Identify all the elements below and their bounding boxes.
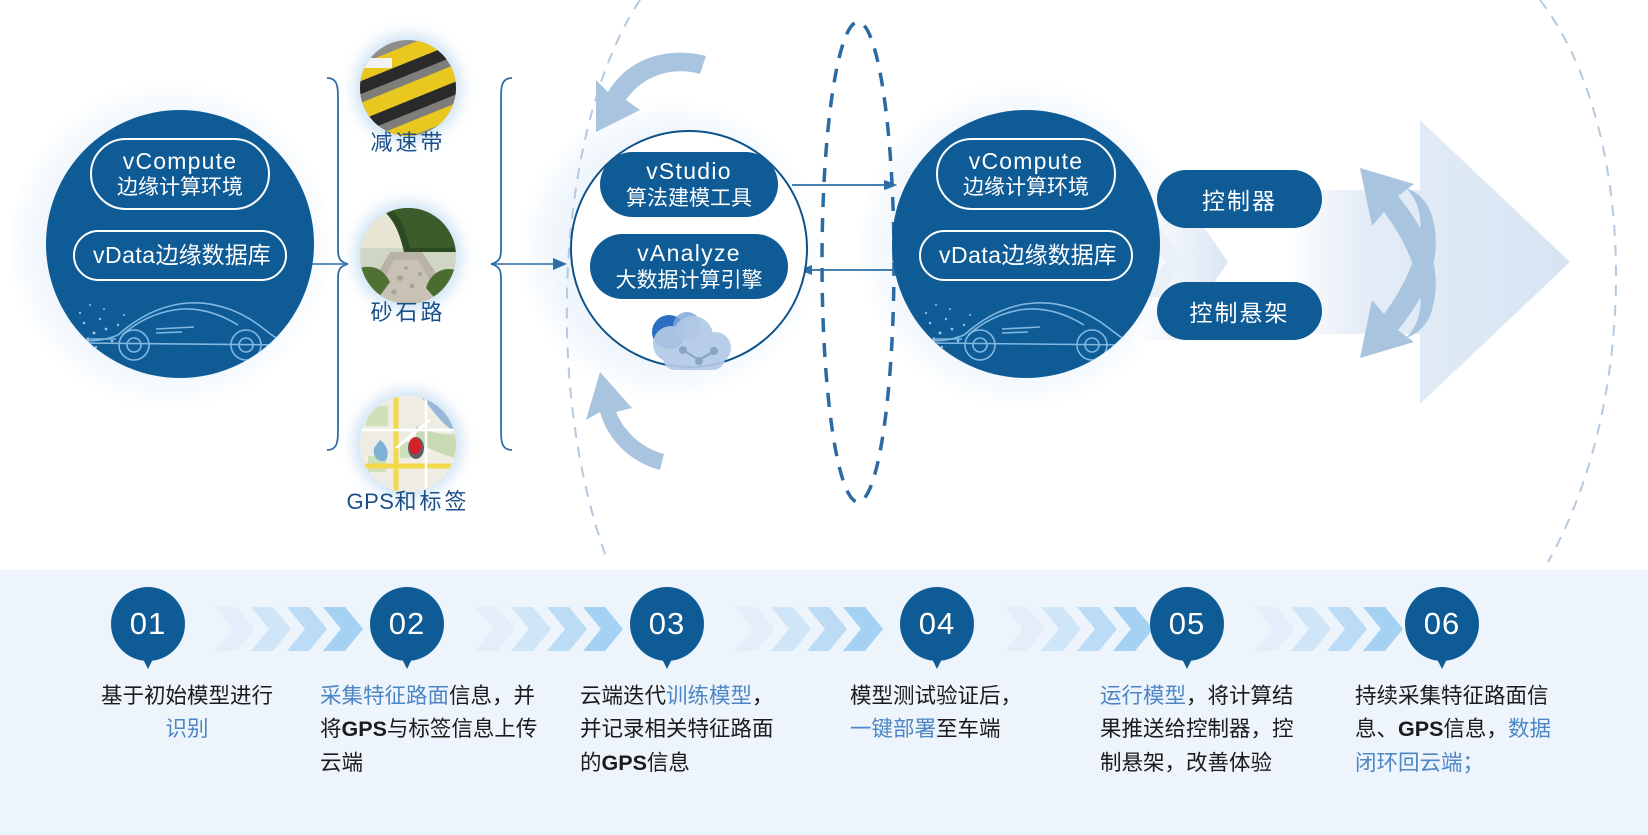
pill-cn-label: 边缘计算环境 — [954, 175, 1098, 201]
step-span: 信息 — [647, 751, 690, 776]
step-line: 模型测试验证后， — [850, 680, 1100, 713]
step-span: 的 — [580, 751, 602, 776]
step-pin-01[interactable]: 01 — [111, 587, 185, 661]
step-line: 基于初始模型进行 — [62, 680, 312, 713]
pill-cn-label: 算法建模工具 — [618, 186, 760, 211]
pill-label-combined: vData边缘数据库 — [93, 241, 267, 270]
cloud-outflow-arrow-bottom — [586, 372, 664, 470]
step-span: GPS — [342, 717, 387, 741]
output-box-suspension[interactable]: 控制悬架 — [1157, 282, 1322, 340]
step-span: GPS — [1398, 717, 1443, 741]
step-span: 信息， — [1443, 717, 1508, 742]
pin-tail — [656, 647, 678, 669]
edge-left-circle[interactable]: vCompute 边缘计算环境 vData边缘数据库 — [46, 110, 314, 378]
step-span: 基于初始模型进行 — [101, 684, 273, 709]
step-connector-4 — [1005, 607, 1157, 651]
infographic-root: vCompute 边缘计算环境 vData边缘数据库 — [0, 0, 1648, 835]
edge-right-pill-vcompute[interactable]: vCompute 边缘计算环境 — [936, 138, 1116, 210]
road-feature-label-0: 减速带 — [308, 125, 508, 157]
step-line: 识别 — [62, 713, 312, 746]
step-span: 果推送给控制器，控 — [1100, 717, 1294, 742]
step-connector-1 — [215, 607, 367, 651]
step-line: 闭环回云端； — [1355, 747, 1605, 780]
cloud-center-circle[interactable]: vStudio 算法建模工具 vAnalyze 大数据计算引擎 — [570, 130, 808, 368]
step-span: 并记录相关特征路面 — [580, 717, 774, 742]
step-connector-2 — [475, 607, 627, 651]
step-span: 运行模型 — [1100, 684, 1186, 709]
pill-cn-label: 边缘计算环境 — [108, 175, 252, 201]
step-span: 训练模型 — [666, 684, 752, 709]
step-text-03: 云端迭代训练模型， 并记录相关特征路面 的GPS信息 — [580, 680, 830, 780]
step-span: 云端迭代 — [580, 684, 666, 709]
step-span: 采集特征路面 — [320, 684, 449, 709]
arrowhead-bracket-right — [553, 258, 567, 270]
step-span: 云端 — [320, 751, 363, 776]
step-line: 的GPS信息 — [580, 747, 830, 780]
step-line: 持续采集特征路面信 — [1355, 680, 1605, 713]
step-span: 持续采集特征路面信 — [1355, 684, 1549, 709]
road-feature-label-2-lat: GPS — [347, 489, 395, 514]
step-line: 息、GPS信息，数据 — [1355, 713, 1605, 746]
step-pin-04[interactable]: 04 — [900, 587, 974, 661]
edge-right-circle[interactable]: vCompute 边缘计算环境 vData边缘数据库 — [892, 110, 1160, 378]
step-line: 果推送给控制器，控 — [1100, 713, 1350, 746]
step-span: 将 — [320, 717, 342, 742]
step-span: 一键部署 — [850, 717, 936, 742]
cloud-pill-vstudio[interactable]: vStudio 算法建模工具 — [600, 152, 778, 217]
cloud-pill-vanalyze[interactable]: vAnalyze 大数据计算引擎 — [590, 234, 788, 299]
pill-cn-label: 边缘数据库 — [156, 243, 271, 269]
step-span: 至车端 — [936, 717, 1001, 742]
gps-map-photo[interactable] — [360, 396, 456, 492]
gravel-road-photo[interactable] — [360, 208, 456, 304]
step-text-04: 模型测试验证后， 一键部署至车端 — [850, 680, 1100, 747]
step-pin-05[interactable]: 05 — [1150, 587, 1224, 661]
speed-bump-photo[interactable] — [360, 40, 456, 136]
cloud-icon — [635, 308, 743, 385]
architecture-diagram: vCompute 边缘计算环境 vData边缘数据库 — [0, 0, 1648, 570]
step-text-01: 基于初始模型进行 识别 — [62, 680, 312, 747]
pill-lat-label: vData — [93, 242, 156, 268]
pill-en-label: vStudio — [618, 158, 760, 186]
step-span: ，将计算结 — [1186, 684, 1294, 709]
step-text-05: 运行模型，将计算结 果推送给控制器，控 制悬架，改善体验 — [1100, 680, 1350, 780]
step-line: 并记录相关特征路面 — [580, 713, 830, 746]
dashed-outer-arc-right — [1540, 0, 1616, 562]
process-steps-panel: 01 基于初始模型进行 识别 02 采集特征路面信息，并 将GPS与标签信息上传… — [0, 570, 1648, 835]
step-line: 云端迭代训练模型， — [580, 680, 830, 713]
pin-tail — [926, 647, 948, 669]
pin-tail — [396, 647, 418, 669]
road-feature-label-2: GPS和标签 — [308, 484, 508, 516]
step-span: 数据 — [1508, 717, 1551, 742]
step-text-06: 持续采集特征路面信 息、GPS信息，数据 闭环回云端； — [1355, 680, 1605, 780]
step-span: GPS — [602, 751, 647, 775]
step-line: 运行模型，将计算结 — [1100, 680, 1350, 713]
pill-label-combined: vData边缘数据库 — [939, 241, 1113, 270]
step-pin-06[interactable]: 06 — [1405, 587, 1479, 661]
edge-left-pill-vcompute[interactable]: vCompute 边缘计算环境 — [90, 138, 270, 210]
vehicle-wireframe-icon — [906, 269, 1146, 370]
pill-en-label: vCompute — [108, 147, 252, 175]
step-connector-5 — [1255, 607, 1407, 651]
output-box-controller[interactable]: 控制器 — [1157, 170, 1322, 228]
step-span: 识别 — [165, 717, 208, 742]
step-line: 云端 — [320, 747, 570, 780]
step-pin-03[interactable]: 03 — [630, 587, 704, 661]
step-span: ， — [752, 684, 774, 709]
pill-cn-label: 大数据计算引擎 — [608, 268, 770, 293]
step-span: 闭环回云端； — [1355, 751, 1484, 776]
pill-cn-label: 边缘数据库 — [1002, 243, 1117, 269]
step-span: 息、 — [1355, 717, 1398, 742]
step-line: 采集特征路面信息，并 — [320, 680, 570, 713]
step-span: 与标签信息上传 — [387, 717, 538, 742]
step-connector-3 — [735, 607, 887, 651]
pin-tail — [1431, 647, 1453, 669]
step-line: 将GPS与标签信息上传 — [320, 713, 570, 746]
pill-en-label: vAnalyze — [608, 240, 770, 268]
step-line: 一键部署至车端 — [850, 713, 1100, 746]
step-text-02: 采集特征路面信息，并 将GPS与标签信息上传 云端 — [320, 680, 570, 780]
pill-en-label: vCompute — [954, 147, 1098, 175]
pin-tail — [1176, 647, 1198, 669]
road-feature-label-2-cn: 和标签 — [394, 490, 469, 515]
vehicle-wireframe-icon — [60, 269, 300, 370]
step-span: 信息，并 — [449, 684, 535, 709]
cloud-inflow-arrow-top — [596, 53, 706, 132]
step-span: 制悬架，改善体验 — [1100, 751, 1272, 776]
step-pin-02[interactable]: 02 — [370, 587, 444, 661]
pin-tail — [137, 647, 159, 669]
step-line: 制悬架，改善体验 — [1100, 747, 1350, 780]
step-span: 模型测试验证后， — [850, 684, 1022, 709]
dashed-sync-ellipse — [822, 22, 894, 502]
pill-lat-label: vData — [939, 242, 1002, 268]
road-feature-label-1: 砂石路 — [308, 295, 508, 327]
